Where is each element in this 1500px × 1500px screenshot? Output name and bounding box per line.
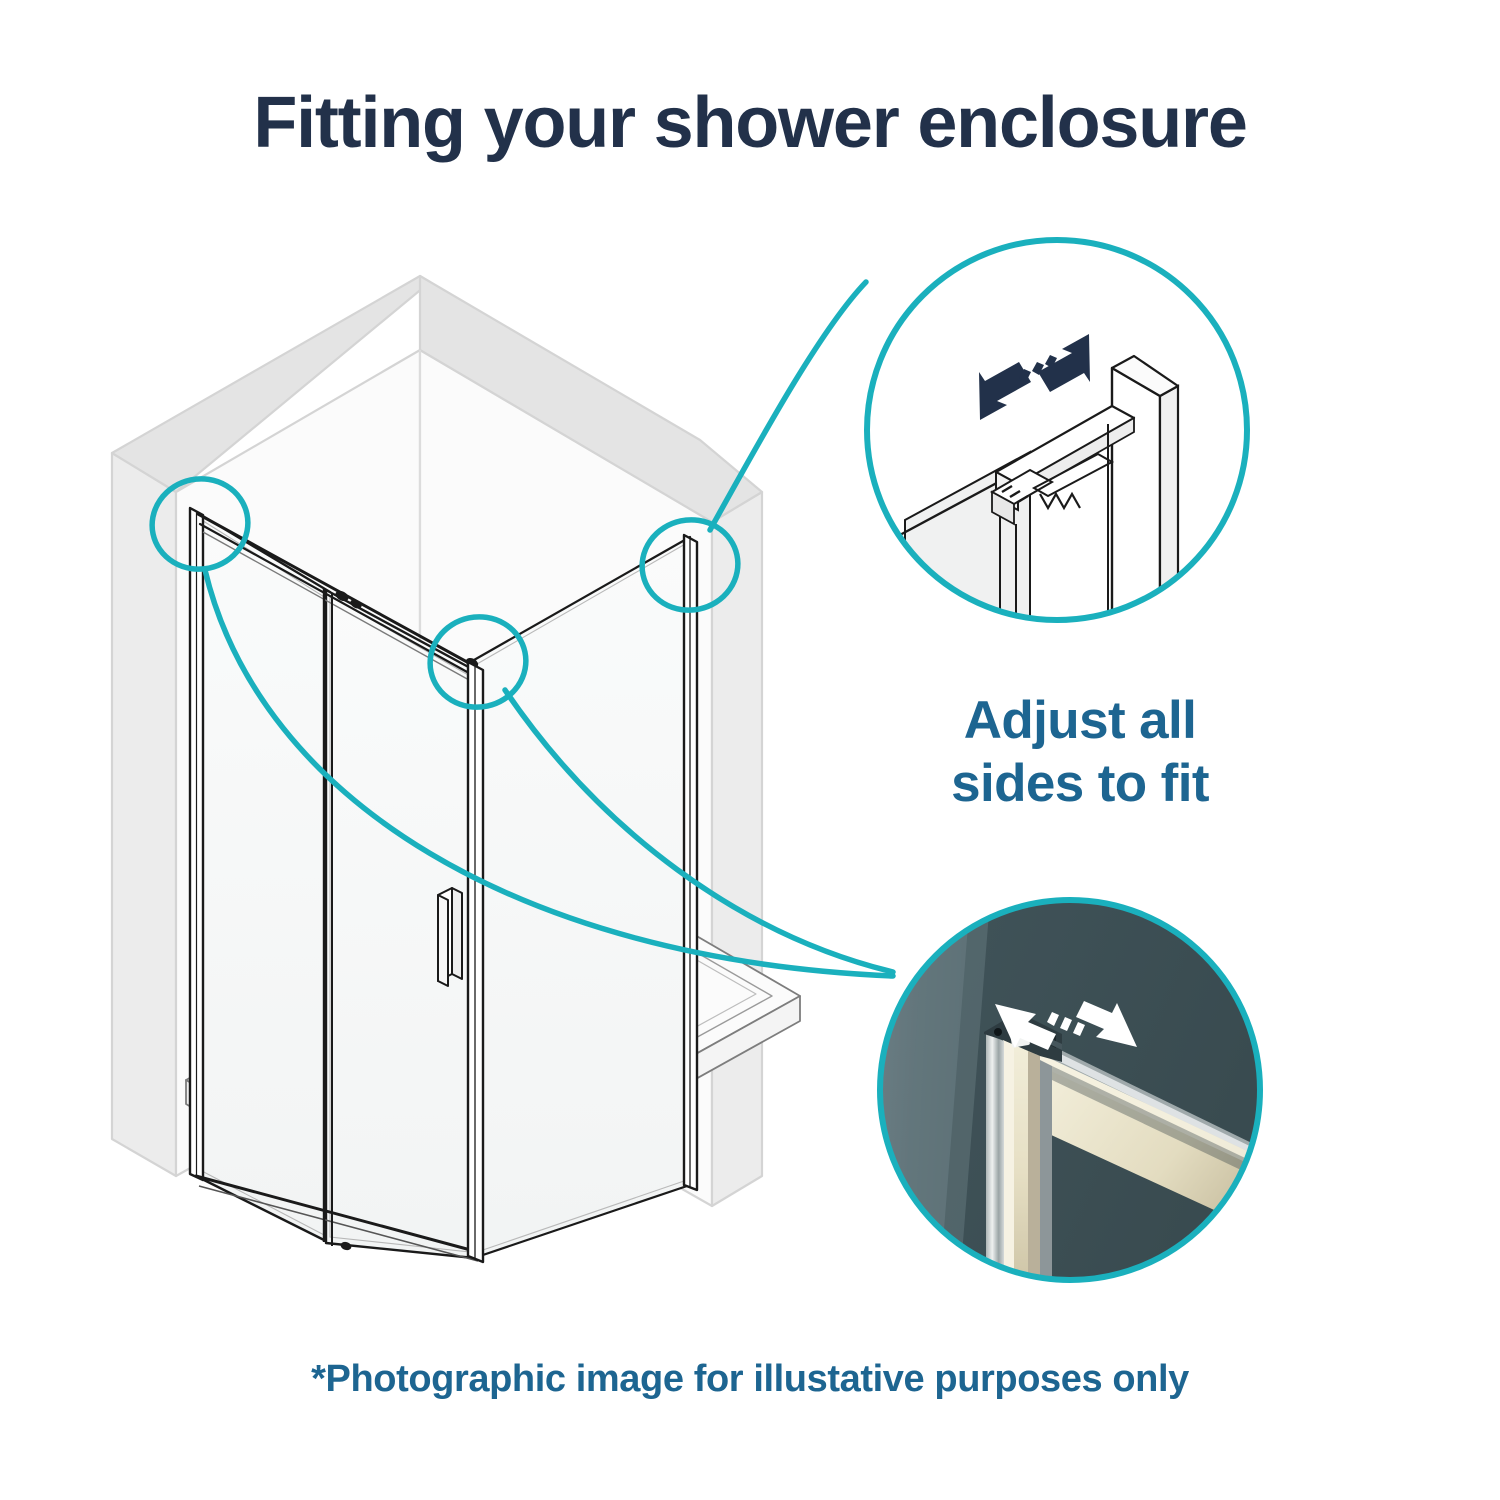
page-title: Fitting your shower enclosure — [0, 86, 1500, 161]
profile-top-cap — [984, 1012, 1062, 1062]
room-walls — [112, 250, 800, 1262]
detail-bottom-border — [880, 900, 1260, 1280]
marker-top-right — [634, 511, 747, 619]
detail-channel — [996, 406, 1134, 510]
detail-glass-panel — [898, 452, 1032, 640]
front-corner-post — [468, 662, 483, 1262]
callout-label: Adjust all sides to fit — [820, 690, 1340, 815]
marker-top-middle — [422, 608, 535, 716]
callout-label-line2: sides to fit — [820, 753, 1340, 816]
marker-top-left — [144, 470, 257, 578]
right-wall-profile — [684, 535, 697, 1190]
shower-tray — [186, 866, 800, 1238]
front-door-assembly — [190, 508, 480, 1261]
side-glass-panel — [474, 537, 690, 1258]
connector-right-to-top — [710, 282, 866, 530]
infographic-canvas: Fitting your shower enclosure Adjust all… — [0, 0, 1500, 1500]
footnote-disclaimer: *Photographic image for illustative purp… — [0, 1358, 1500, 1401]
tray-drain — [411, 1070, 449, 1092]
connector-left-to-bottom — [205, 570, 893, 976]
callout-label-line1: Adjust all — [820, 690, 1340, 753]
door-handle — [438, 888, 462, 986]
adjustment-arrow-bottom — [995, 1001, 1137, 1050]
detail-wall-profile — [1112, 356, 1178, 640]
detail-bracket — [992, 454, 1112, 524]
detail-top-border — [867, 240, 1247, 620]
adjustment-arrow-top — [979, 334, 1090, 420]
